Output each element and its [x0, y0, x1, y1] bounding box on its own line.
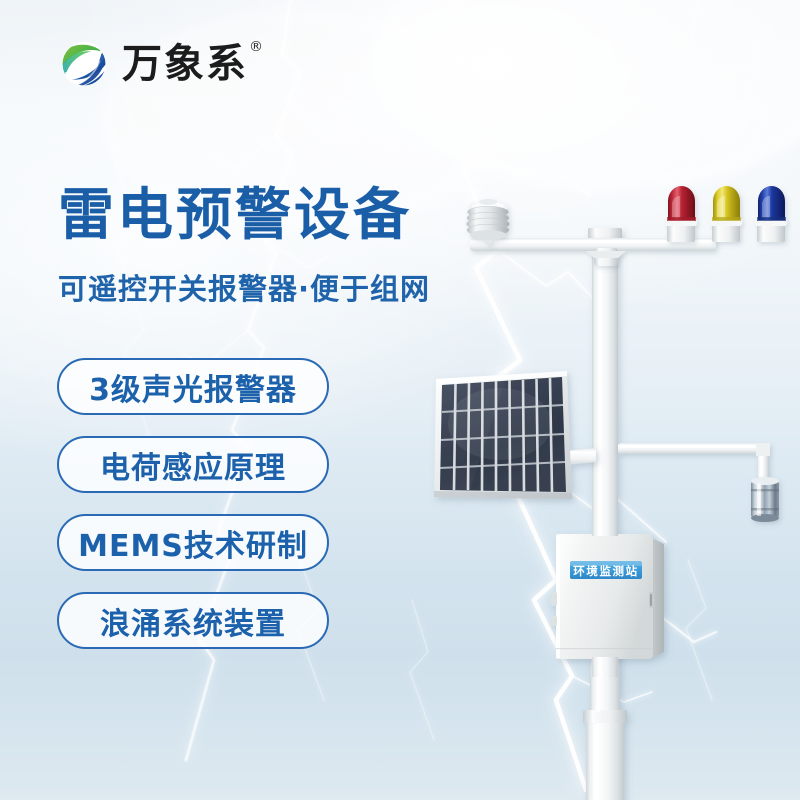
enclosure-label: 环境监测站: [570, 561, 642, 579]
feature-pill-3: MEMS技术研制: [57, 514, 329, 571]
registered-trademark-icon: ®: [249, 40, 265, 54]
feature-list: 3级声光报警器 电荷感应原理 MEMS技术研制 浪涌系统装置: [57, 358, 329, 649]
headline-block: 雷电预警设备 可遥控开关报警器·便于组网: [58, 186, 488, 308]
page-subtitle: 可遥控开关报警器·便于组网: [58, 266, 488, 308]
control-enclosure: 环境监测站: [551, 534, 664, 659]
beacon-blue: [755, 186, 787, 242]
feature-pill-1: 3级声光报警器: [57, 358, 329, 415]
feature-pill-4: 浪涌系统装置: [57, 592, 329, 649]
page-title: 雷电预警设备: [58, 186, 488, 246]
brand-name: 万象系: [122, 41, 248, 87]
feature-pill-2: 电荷感应原理: [57, 436, 329, 493]
electric-field-sensor-arm: [618, 443, 770, 490]
brand-logo: 万象系 ®: [58, 38, 248, 90]
solar-panel: [434, 371, 596, 499]
beacon-yellow: [710, 186, 742, 242]
poster-canvas: 环境监测站: [0, 0, 800, 800]
electric-field-sensor: [751, 477, 779, 522]
globe-swirl-logo-icon: [58, 38, 110, 90]
svg-text:环境监测站: 环境监测站: [573, 564, 639, 578]
brand-name-wrap: 万象系 ®: [122, 44, 248, 84]
beacon-red: [665, 186, 697, 242]
